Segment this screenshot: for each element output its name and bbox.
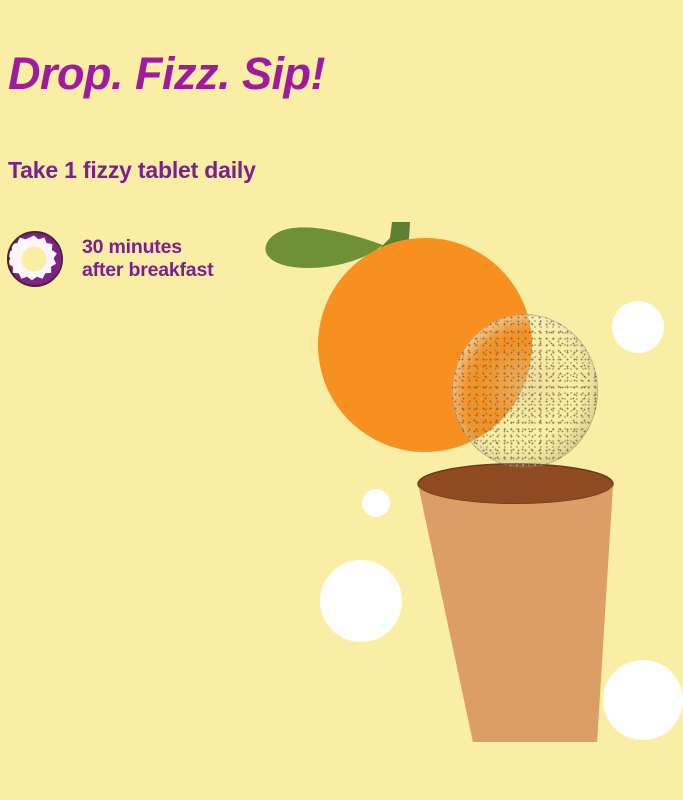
timing-line-1: 30 minutes: [82, 236, 213, 259]
badge-outline-ring: [7, 231, 63, 287]
sun-burst-icon: [4, 228, 66, 290]
bubble-top-right: [612, 301, 664, 353]
bubble-bottom-right: [603, 660, 683, 740]
tablet-disc: [452, 314, 598, 468]
timing-instruction-row: 30 minutes after breakfast: [4, 228, 213, 290]
timing-label: 30 minutes after breakfast: [82, 236, 213, 282]
timing-line-2: after breakfast: [82, 259, 213, 282]
promo-poster: Drop. Fizz. Sip! Take 1 fizzy tablet dai…: [0, 0, 683, 800]
effervescent-tablet: [452, 314, 598, 468]
tablet-speckle-texture: [452, 314, 598, 468]
dosage-instruction: Take 1 fizzy tablet daily: [8, 156, 256, 184]
page-title: Drop. Fizz. Sip!: [8, 48, 325, 100]
bubble-mid-large: [320, 560, 402, 642]
bubble-mid-small: [362, 489, 390, 517]
